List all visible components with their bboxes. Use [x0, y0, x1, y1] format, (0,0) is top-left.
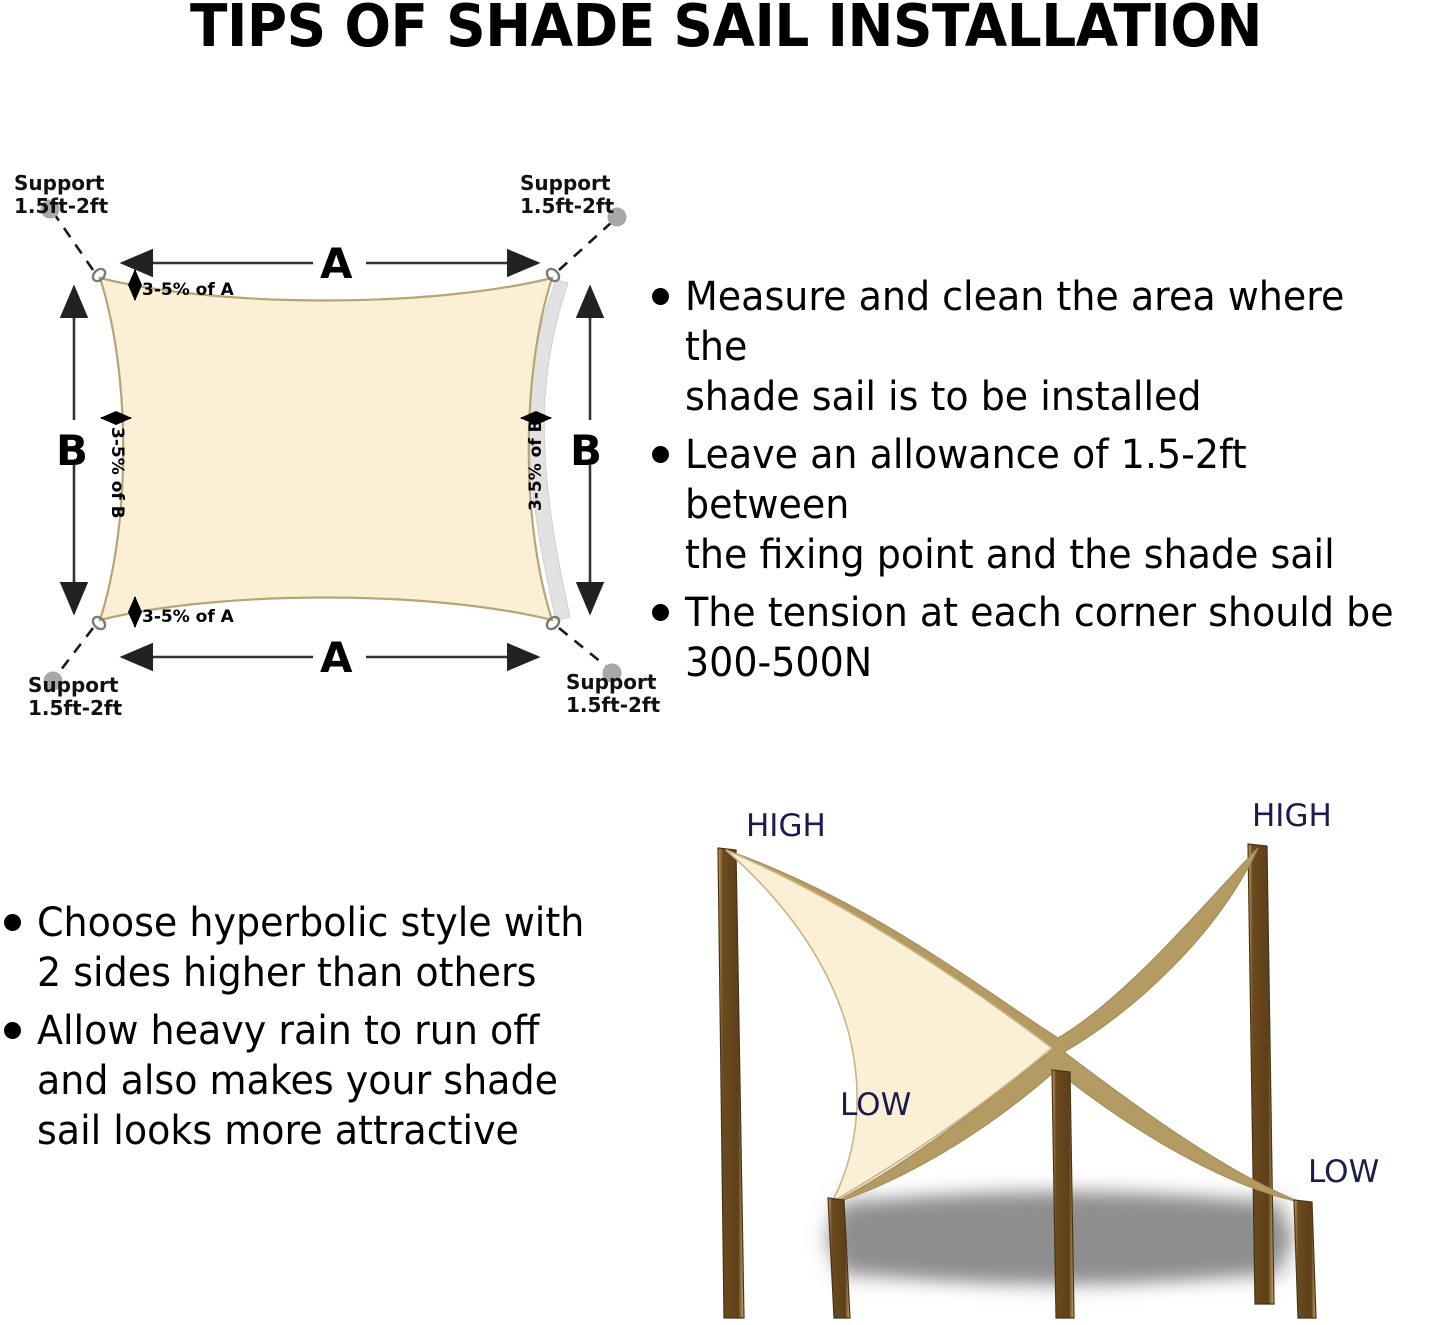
- curvature-label-top: 3-5% of A: [142, 280, 235, 300]
- list-item: Measure and clean the area where the sha…: [652, 272, 1452, 422]
- support-label-line1: Support: [14, 171, 105, 195]
- list-item: Choose hyperbolic style with 2 sides hig…: [4, 898, 619, 998]
- support-label-line2: 1.5ft-2ft: [14, 194, 109, 218]
- list-item-label: The tension at each corner should be 300…: [685, 588, 1394, 688]
- page-title: TIPS OF SHADE SAIL INSTALLATION: [51, 0, 1401, 55]
- support-label-bottom-right: Support 1.5ft-2ft: [566, 670, 660, 717]
- bullet-dot-icon: [652, 446, 669, 463]
- dimension-b-left: B: [56, 287, 88, 613]
- bullet-dot-icon: [652, 288, 669, 305]
- bullet-dot-icon: [4, 1022, 21, 1039]
- support-label-line2: 1.5ft-2ft: [28, 696, 123, 720]
- list-item: The tension at each corner should be 300…: [652, 588, 1452, 688]
- rectangular-sail-diagram: Support 1.5ft-2ft Support 1.5ft-2ft Supp…: [0, 165, 660, 735]
- dimension-b-label: B: [56, 426, 88, 475]
- list-item-label: Measure and clean the area where the sha…: [685, 272, 1414, 422]
- support-label-top-left: Support 1.5ft-2ft: [14, 171, 109, 218]
- curvature-indicator-left: 3-5% of B: [101, 418, 131, 519]
- dimension-b-right: B: [570, 287, 602, 613]
- corner-label-high-left: HIGH: [746, 808, 826, 844]
- curvature-indicator-top: 3-5% of A: [135, 270, 235, 300]
- sail-panel-front: [726, 850, 1052, 1202]
- installation-tips-top-list: Measure and clean the area where the sha…: [652, 272, 1452, 696]
- hyperbolic-sail-diagram: HIGH HIGH LOW LOW: [660, 770, 1452, 1325]
- dimension-a-label: A: [320, 633, 353, 682]
- curvature-label-left: 3-5% of B: [107, 427, 127, 519]
- post-low-right: [1294, 1200, 1316, 1318]
- corner-label-low-left: LOW: [840, 1087, 911, 1123]
- bullet-dot-icon: [4, 914, 21, 931]
- dimension-b-label: B: [570, 426, 602, 475]
- list-item-label: Allow heavy rain to run off and also mak…: [37, 1006, 558, 1156]
- shade-sail-shape: [100, 278, 552, 620]
- list-item-label: Leave an allowance of 1.5-2ft between th…: [685, 430, 1414, 580]
- corner-label-high-right: HIGH: [1252, 798, 1332, 834]
- curvature-label-bottom: 3-5% of A: [142, 607, 235, 627]
- post-high-left: [718, 848, 744, 1318]
- curvature-label-right: 3-5% of B: [526, 419, 546, 511]
- support-label-line2: 1.5ft-2ft: [520, 194, 615, 218]
- list-item-label: Choose hyperbolic style with 2 sides hig…: [37, 898, 584, 998]
- support-label-top-right: Support 1.5ft-2ft: [520, 171, 615, 218]
- bullet-dot-icon: [652, 604, 669, 621]
- corner-label-low-right: LOW: [1308, 1154, 1379, 1190]
- dimension-a-label: A: [320, 239, 353, 288]
- post-center: [1052, 1070, 1074, 1318]
- list-item: Allow heavy rain to run off and also mak…: [4, 1006, 619, 1156]
- support-label-bottom-left: Support 1.5ft-2ft: [28, 673, 123, 720]
- support-label-line2: 1.5ft-2ft: [566, 693, 660, 717]
- support-label-line1: Support: [28, 673, 119, 697]
- list-item: Leave an allowance of 1.5-2ft between th…: [652, 430, 1452, 580]
- support-label-line1: Support: [520, 171, 611, 195]
- installation-tips-bottom-list: Choose hyperbolic style with 2 sides hig…: [4, 898, 619, 1164]
- support-label-line1: Support: [566, 670, 657, 694]
- dimension-a-bottom: A: [122, 633, 538, 682]
